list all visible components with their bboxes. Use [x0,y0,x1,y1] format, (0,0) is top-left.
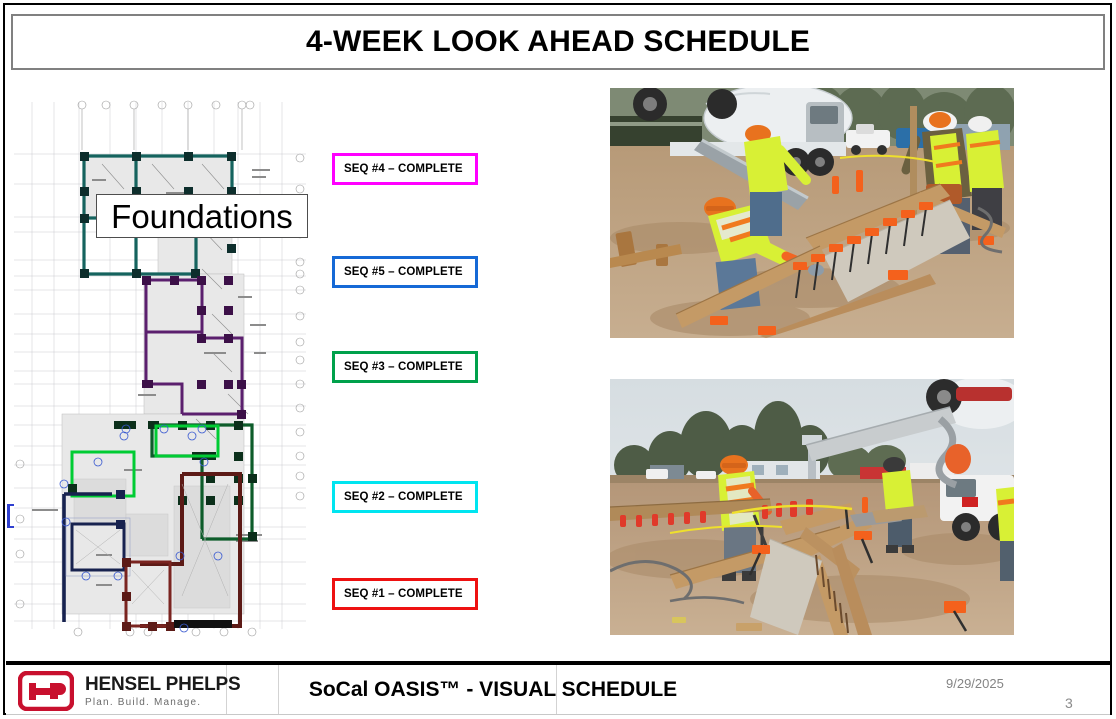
footer-bottom-rule [6,714,1110,715]
photo-1-content [610,88,1014,338]
company-tagline: Plan. Build. Manage. [85,698,240,708]
photo-2-content [610,379,1014,635]
legend-label-seq2: SEQ #2 – COMPLETE [344,491,463,503]
page-title: 4-WEEK LOOK AHEAD SCHEDULE [306,25,810,59]
floor-plan-icon [6,84,318,646]
legend-label-seq4: SEQ #4 – COMPLETE [344,163,463,175]
footer-divider-2 [278,665,279,715]
legend-item-seq2[interactable]: SEQ #2 – COMPLETE [332,481,478,513]
left-bracket-marker [7,504,14,528]
footer-page-number: 3 [1065,695,1073,711]
legend-label-seq1: SEQ #1 – COMPLETE [344,588,463,600]
foundations-label-box: Foundations [96,194,308,238]
company-name: HENSEL PHELPS [85,675,240,694]
legend-item-seq1[interactable]: SEQ #1 – COMPLETE [332,578,478,610]
concrete-pour-footing-photo[interactable] [610,88,1014,338]
legend-item-seq5[interactable]: SEQ #5 – COMPLETE [332,256,478,288]
footer-divider-3 [556,665,557,715]
foundation-plan-drawing: Foundations [6,84,318,646]
footer-project-title: SoCal OASIS™ - VISUAL SCHEDULE [309,678,677,702]
slide-canvas: 4-WEEK LOOK AHEAD SCHEDULE [0,0,1116,719]
footer-bar: HENSEL PHELPS Plan. Build. Manage. SoCal… [6,665,1110,715]
legend-item-seq4[interactable]: SEQ #4 – COMPLETE [332,153,478,185]
legend-item-seq3[interactable]: SEQ #3 – COMPLETE [332,351,478,383]
legend-label-seq3: SEQ #3 – COMPLETE [344,361,463,373]
foundations-label: Foundations [111,200,293,233]
hensel-phelps-logo: HENSEL PHELPS Plan. Build. Manage. [18,671,240,711]
hensel-phelps-hp-logo-icon [18,671,74,711]
site-overview-pump-truck-photo[interactable] [610,379,1014,635]
footer-date: 9/29/2025 [946,676,1004,691]
slide-title-box: 4-WEEK LOOK AHEAD SCHEDULE [11,14,1105,70]
legend-label-seq5: SEQ #5 – COMPLETE [344,266,463,278]
